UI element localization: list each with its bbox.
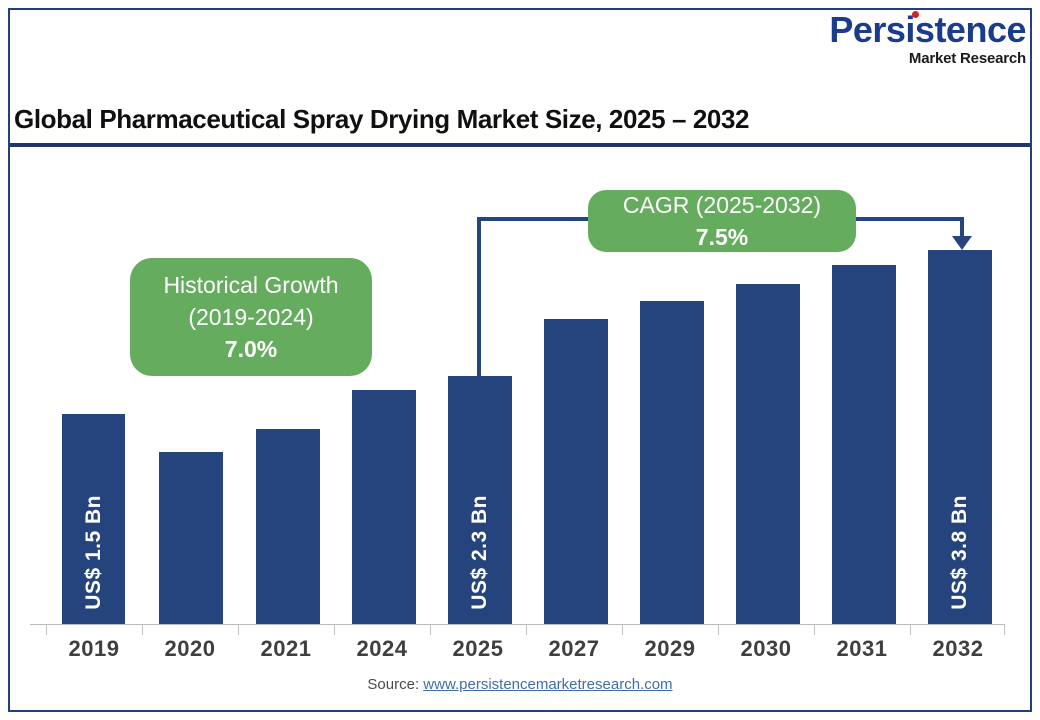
historical-growth-line1: Historical Growth <box>163 269 338 301</box>
axis-tick <box>622 624 623 635</box>
axis-tick <box>142 624 143 635</box>
bar-2032[interactable]: US$ 3.8 Bn <box>928 250 992 624</box>
x-axis-label-2019: 2019 <box>46 636 142 662</box>
bar-2020[interactable] <box>159 452 223 624</box>
chart-page: Persistence Market Research Global Pharm… <box>0 0 1040 720</box>
cagr-callout: CAGR (2025-2032) 7.5% <box>588 190 856 252</box>
cagr-value: 7.5% <box>696 221 748 253</box>
axis-tick <box>1004 624 1005 635</box>
source-link[interactable]: www.persistencemarketresearch.com <box>423 676 672 693</box>
bar-2031[interactable] <box>832 265 896 624</box>
cagr-line1: CAGR (2025-2032) <box>623 189 821 221</box>
axis-tick <box>718 624 719 635</box>
bar-2019[interactable]: US$ 1.5 Bn <box>62 414 125 624</box>
axis-tick <box>526 624 527 635</box>
source-prefix-label: Source: <box>367 676 423 693</box>
bar-value-label-2019: US$ 1.5 Bn <box>82 495 106 610</box>
arrow-down-icon <box>952 236 972 250</box>
x-axis-label-2025: 2025 <box>430 636 526 662</box>
x-axis-label-2029: 2029 <box>622 636 718 662</box>
axis-tick <box>814 624 815 635</box>
bar-2027[interactable] <box>544 319 608 624</box>
x-axis-label-2021: 2021 <box>238 636 334 662</box>
cagr-connector-left-horizontal <box>477 217 592 221</box>
bar-2021[interactable] <box>256 429 320 624</box>
bar-2029[interactable] <box>640 301 704 624</box>
bar-2030[interactable] <box>736 284 800 624</box>
bar-value-label-2032: US$ 3.8 Bn <box>948 495 972 610</box>
cagr-connector-left-vertical <box>477 220 481 378</box>
x-axis-line <box>30 624 1005 625</box>
x-axis-label-2020: 2020 <box>142 636 238 662</box>
x-axis-label-2030: 2030 <box>718 636 814 662</box>
axis-tick <box>46 624 47 635</box>
historical-growth-value: 7.0% <box>225 333 277 365</box>
historical-growth-line2: (2019-2024) <box>188 301 313 333</box>
x-axis-label-2031: 2031 <box>814 636 910 662</box>
x-axis-label-2024: 2024 <box>334 636 430 662</box>
bar-2025[interactable]: US$ 2.3 Bn <box>448 376 512 624</box>
x-axis-label-2032: 2032 <box>910 636 1006 662</box>
axis-tick <box>910 624 911 635</box>
bar-2024[interactable] <box>352 390 416 624</box>
source-note: Source: www.persistencemarketresearch.co… <box>0 676 1040 693</box>
axis-tick <box>334 624 335 635</box>
axis-tick <box>430 624 431 635</box>
bar-value-label-2025: US$ 2.3 Bn <box>468 495 492 610</box>
bar-chart: US$ 1.5 Bn US$ 2.3 Bn US$ 3.8 Bn 2019 20… <box>0 0 1040 720</box>
historical-growth-callout: Historical Growth (2019-2024) 7.0% <box>130 258 372 376</box>
axis-tick <box>238 624 239 635</box>
cagr-connector-right-horizontal <box>852 217 964 221</box>
x-axis-label-2027: 2027 <box>526 636 622 662</box>
